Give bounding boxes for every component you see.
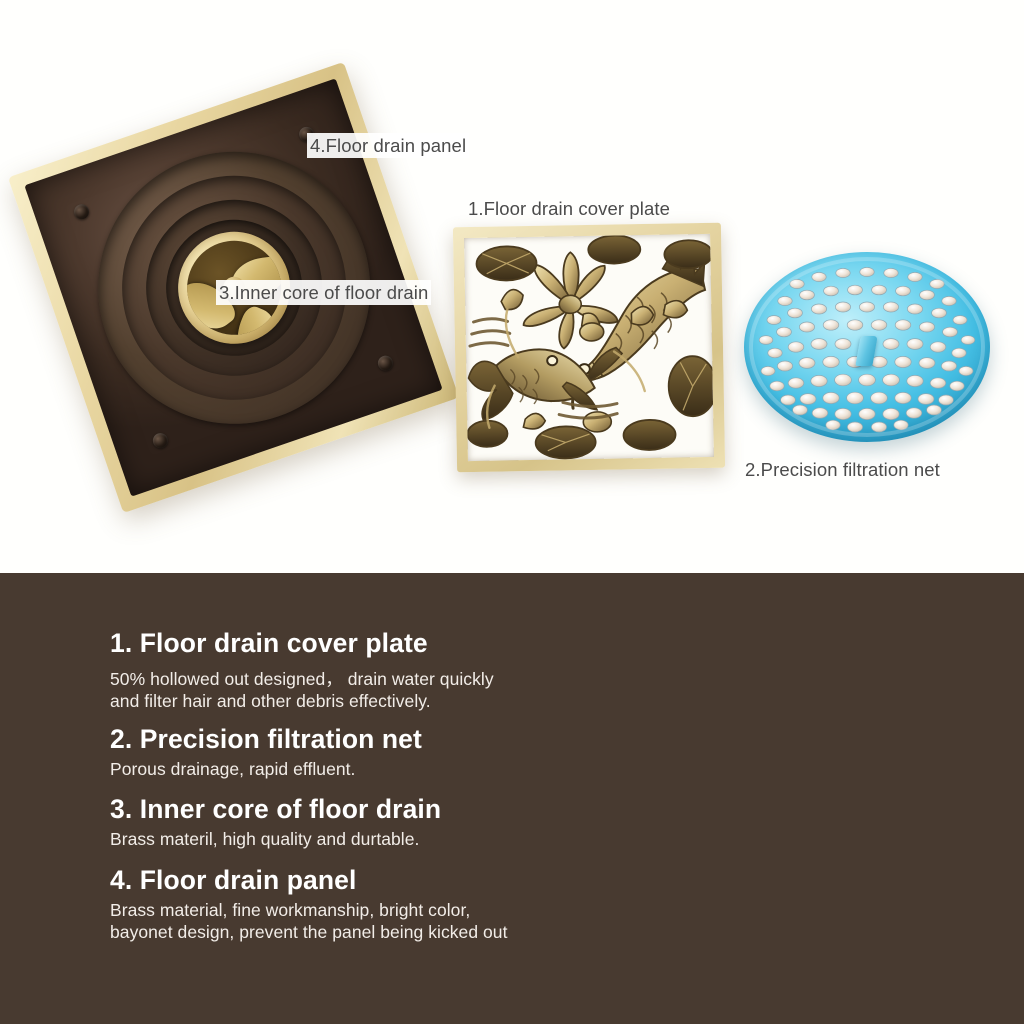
description-title-4: 4. Floor drain panel bbox=[110, 865, 940, 896]
product-infographic: 4.Floor drain panel 1.Floor drain cover … bbox=[0, 0, 1024, 1024]
description-title-3: 3. Inner core of floor drain bbox=[110, 794, 940, 825]
description-item-4: 4. Floor drain panel Brass material, fin… bbox=[110, 865, 940, 944]
description-section: 1. Floor drain cover plate 50% hollowed … bbox=[0, 573, 1024, 1024]
description-title-2: 2. Precision filtration net bbox=[110, 724, 940, 755]
description-body-2: Porous drainage, rapid effluent. bbox=[110, 758, 940, 780]
description-item-2: 2. Precision filtration net Porous drain… bbox=[110, 724, 940, 780]
screw-hole bbox=[376, 354, 395, 373]
description-body-4: Brass material, fine workmanship, bright… bbox=[110, 899, 940, 944]
cover-plate-carving bbox=[464, 234, 714, 461]
net-disc bbox=[744, 252, 990, 442]
callout-label-cover-plate: 1.Floor drain cover plate bbox=[468, 197, 670, 220]
description-title-1: 1. Floor drain cover plate bbox=[110, 628, 940, 659]
callout-label-filtration-net: 2.Precision filtration net bbox=[745, 458, 940, 481]
description-body-3: Brass materil, high quality and durtable… bbox=[110, 828, 940, 850]
callout-label-inner-core: 3.Inner core of floor drain bbox=[216, 280, 431, 305]
product-photo-section: 4.Floor drain panel 1.Floor drain cover … bbox=[0, 0, 1024, 573]
floor-drain-cover-plate-image bbox=[453, 223, 725, 473]
screw-hole bbox=[151, 431, 170, 450]
callout-label-floor-drain-panel: 4.Floor drain panel bbox=[307, 133, 469, 158]
cover-plate-frame bbox=[453, 223, 725, 473]
description-item-3: 3. Inner core of floor drain Brass mater… bbox=[110, 794, 940, 850]
precision-filtration-net-image bbox=[744, 252, 990, 442]
screw-hole bbox=[72, 202, 91, 221]
description-body-1: 50% hollowed out designed， drain water q… bbox=[110, 668, 940, 713]
description-item-1: 1. Floor drain cover plate 50% hollowed … bbox=[110, 628, 940, 713]
description-list: 1. Floor drain cover plate 50% hollowed … bbox=[110, 628, 940, 943]
